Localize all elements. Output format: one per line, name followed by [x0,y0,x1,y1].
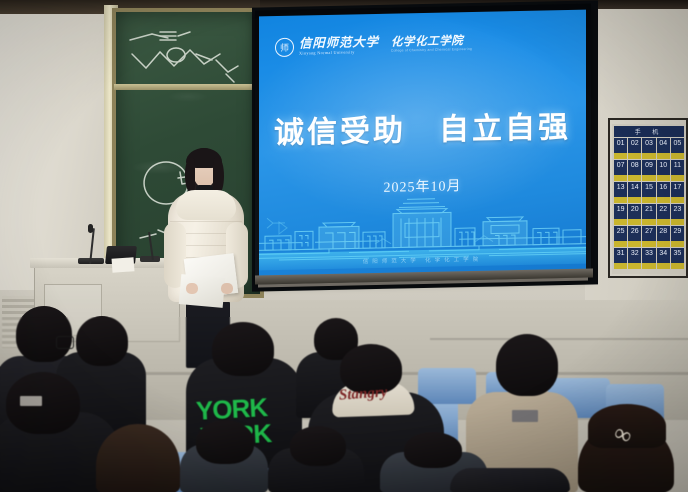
university-name-block: 信阳师范大学 Xinyang Normal University [299,36,379,56]
jacket-logo-tag [20,396,42,406]
pocket-slot[interactable]: 03 [642,138,655,159]
pocket-slot[interactable]: 14 [628,182,641,203]
pocket-slot[interactable]: 07 [614,160,627,181]
pocket-slot[interactable]: 19 [614,204,627,225]
pocket-slot[interactable]: 35 [671,248,684,269]
pocket-slot[interactable]: 08 [628,160,641,181]
hoodie-script-text: Stangry [338,384,387,404]
jacket-label-tag [512,410,538,422]
pocket-slot[interactable]: 02 [628,138,641,159]
pocket-slot[interactable]: 32 [628,248,641,269]
pocket-slot[interactable]: 27 [642,226,655,247]
pocket-slot[interactable]: 05 [671,138,684,159]
papers-on-lectern [112,257,135,273]
chalk-rail [114,84,264,90]
pocket-row: 0102030405 [614,138,684,159]
college-name-en: College of Chemistry and Chemical Engine… [391,48,472,53]
audience-person-head [196,420,254,464]
presenter-left-hand [186,283,198,294]
pocket-row: 1920212223 [614,204,684,225]
pocket-slot[interactable]: 25 [614,226,627,247]
pocket-slot[interactable]: 21 [642,204,655,225]
pocket-chart-header: 手 机 [614,126,684,137]
microphone-2-base [140,256,160,262]
presenter-hood [176,190,236,220]
pocket-row: 1314151617 [614,182,684,203]
eyeglasses-icon [56,336,74,349]
audience-person-head [16,306,72,362]
pocket-slot[interactable]: 26 [628,226,641,247]
audience-person-head [404,432,462,468]
presenter-hair-right [213,158,224,194]
pocket-rows: 0102030405070809101113141516171920212223… [614,138,684,269]
pocket-slot[interactable]: 04 [657,138,670,159]
pocket-slot[interactable]: 28 [657,226,670,247]
college-name-block: 化学化工学院 College of Chemistry and Chemical… [391,35,472,53]
pocket-slot[interactable]: 23 [671,204,684,225]
pocket-slot[interactable]: 31 [614,248,627,269]
pocket-slot[interactable]: 17 [671,182,684,203]
audience-person-head [496,334,558,396]
pocket-slot[interactable]: 10 [657,160,670,181]
university-name-cn: 信阳师范大学 [299,36,379,51]
pocket-slot[interactable]: 22 [657,204,670,225]
audience-person-head [6,372,80,434]
classroom-photo: 信阳师范大学 化学化工学院 师 信阳师范大学 Xinyang Normal Un… [0,0,688,492]
pocket-slot[interactable]: 13 [614,182,627,203]
pocket-slot[interactable]: 29 [671,226,684,247]
audience-person-head [76,316,128,366]
emblem-glyph: 师 [280,41,289,54]
slide-title: 诚信受助 自立自强 [259,102,586,153]
pocket-slot[interactable]: 34 [657,248,670,269]
pocket-row: 3132333435 [614,248,684,269]
pocket-slot[interactable]: 01 [614,138,627,159]
audience-person-head [212,322,274,376]
phone-pocket-chart: 手 机 010203040507080910111314151617192021… [612,124,686,274]
pocket-slot[interactable]: 33 [642,248,655,269]
microphone-head [88,224,93,233]
pocket-row: 2526272829 [614,226,684,247]
audience-person-body [450,468,570,492]
pocket-slot[interactable]: 20 [628,204,641,225]
pocket-slot[interactable]: 16 [657,182,670,203]
pocket-slot[interactable]: 15 [642,182,655,203]
university-emblem-icon: 师 [275,38,294,57]
pocket-slot[interactable]: 11 [671,160,684,181]
pocket-row: 0708091011 [614,160,684,181]
audience-person-head [290,426,346,466]
pocket-slot[interactable]: 09 [642,160,655,181]
wall-seam-right [430,338,688,340]
presenter-right-hand [221,283,233,294]
presenter-hair-left [185,158,195,192]
projection-screen: 信阳师范大学 化学化工学院 师 信阳师范大学 Xinyang Normal Un… [259,10,586,277]
